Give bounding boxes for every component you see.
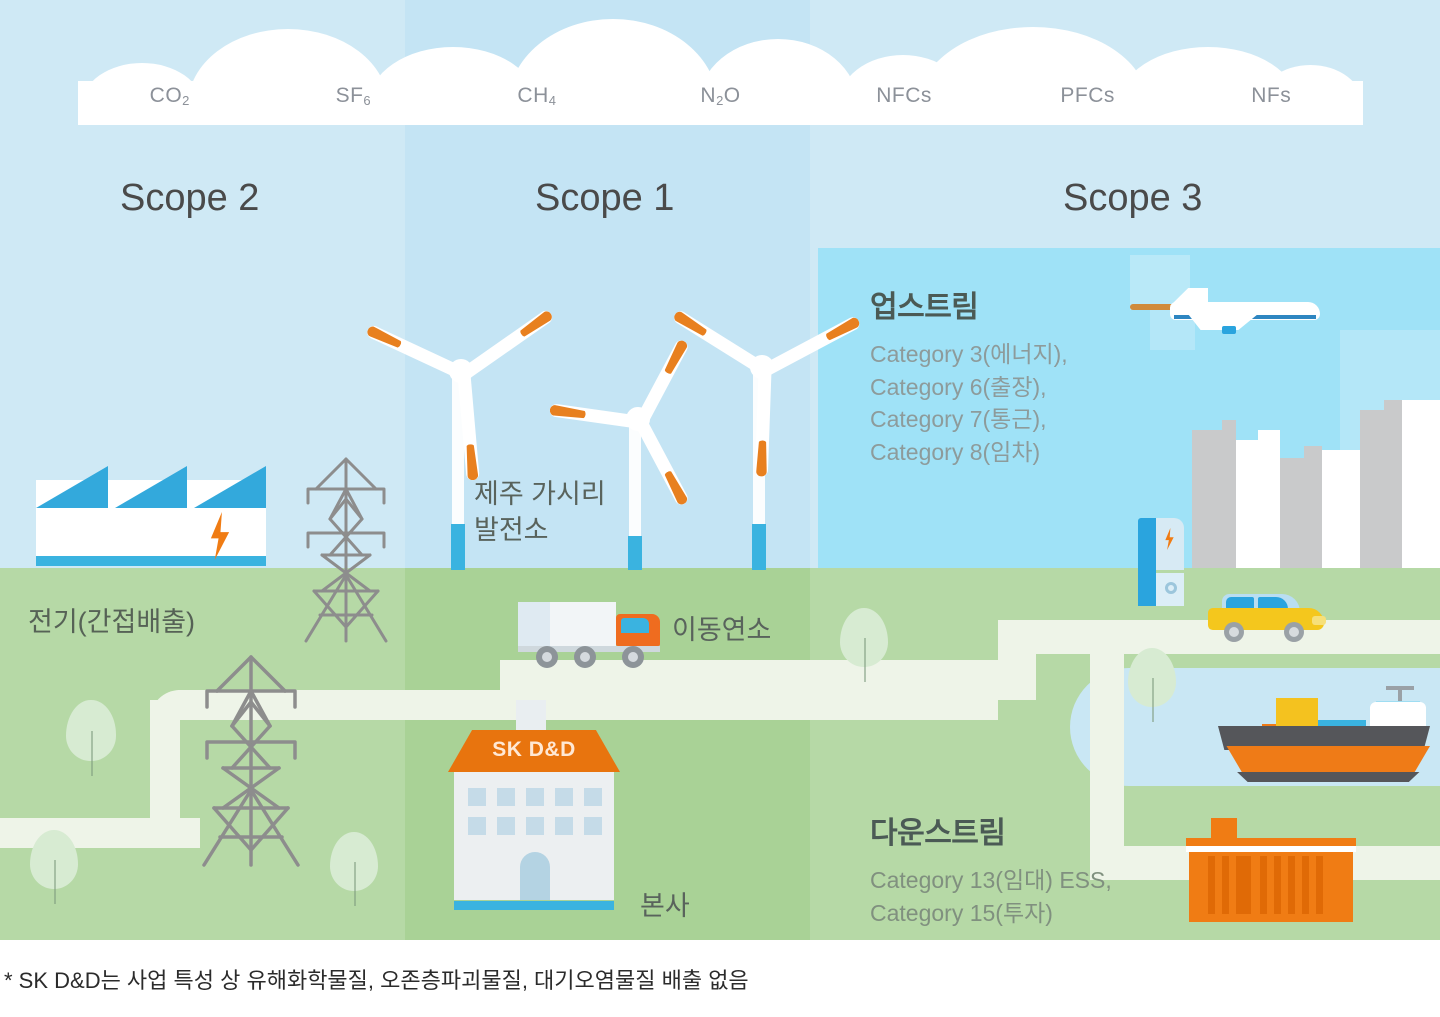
cargo-ship-icon (1218, 690, 1430, 782)
office-building-icon: SK D&D (448, 700, 620, 910)
car-icon (1208, 592, 1330, 638)
downstream-categories: Category 13(임대) ESS, Category 15(투자) (870, 864, 1112, 929)
jeju-plant-line2: 발전소 (474, 512, 606, 548)
scope3-title: Scope 3 (1063, 177, 1202, 220)
jeju-plant-line1: 제주 가시리 (474, 476, 606, 512)
scope2-title: Scope 2 (120, 177, 259, 220)
infographic-canvas: SK D&D (0, 0, 1440, 940)
headquarters-label: 본사 (640, 884, 690, 923)
downstream-heading: 다운스트림 (870, 808, 1112, 852)
upstream-heading: 업스트림 (870, 282, 1068, 326)
gas-label-ch4: CH4 (445, 84, 629, 114)
upstream-categories: Category 3(에너지), Category 6(출장), Categor… (870, 338, 1068, 469)
leaf-icon (840, 608, 888, 684)
electricity-label: 전기(간접배출) (28, 600, 195, 639)
leaf-icon (66, 700, 116, 778)
downstream-category-line: Category 15(투자) (870, 897, 1112, 930)
wind-turbine-icon (684, 292, 834, 570)
gas-label-pfcs: PFCs (996, 84, 1180, 114)
footnote-text: * SK D&D는 사업 특성 상 유해화학물질, 오존층파괴물질, 대기오염물… (0, 963, 749, 995)
downstream-category-line: Category 13(임대) ESS, (870, 864, 1112, 897)
scope1-title: Scope 1 (535, 177, 674, 220)
leaf-icon (330, 832, 378, 908)
gas-label-nfs: NFs (1179, 84, 1363, 114)
gas-label-nfcs: NFCs (812, 84, 996, 114)
road-segment (150, 700, 180, 848)
upstream-category-line: Category 3(에너지), (870, 338, 1068, 371)
downstream-block: 다운스트림 Category 13(임대) ESS, Category 15(투… (870, 808, 1112, 929)
leaf-icon (1128, 648, 1176, 724)
gas-label-sf6: SF6 (262, 84, 446, 114)
truck-icon (518, 598, 664, 668)
gas-label-row: CO2 SF6 CH4 N2O NFCs PFCs NFs (78, 84, 1363, 114)
gas-label-co2: CO2 (78, 84, 262, 114)
transmission-tower-icon (198, 652, 304, 870)
upstream-category-line: Category 7(통근), (870, 403, 1068, 436)
shipping-container-icon (1186, 818, 1356, 922)
upstream-category-line: Category 6(출장), (870, 371, 1068, 404)
factory-icon (36, 466, 266, 566)
upstream-block: 업스트림 Category 3(에너지), Category 6(출장), Ca… (870, 282, 1068, 469)
hq-sign-label: SK D&D (448, 738, 620, 762)
leaf-icon (30, 830, 78, 906)
city-skyline (1192, 430, 1440, 568)
ev-charger-icon (1138, 518, 1184, 606)
mobile-combustion-label: 이동연소 (672, 608, 771, 647)
airplane-icon (1130, 288, 1320, 336)
upstream-category-line: Category 8(임차) (870, 436, 1068, 469)
gas-label-n2o: N2O (629, 84, 813, 114)
footnote-bar: * SK D&D는 사업 특성 상 유해화학물질, 오존층파괴물질, 대기오염물… (0, 940, 1440, 1017)
jeju-plant-label: 제주 가시리 발전소 (474, 476, 606, 548)
transmission-tower-icon (300, 455, 392, 645)
